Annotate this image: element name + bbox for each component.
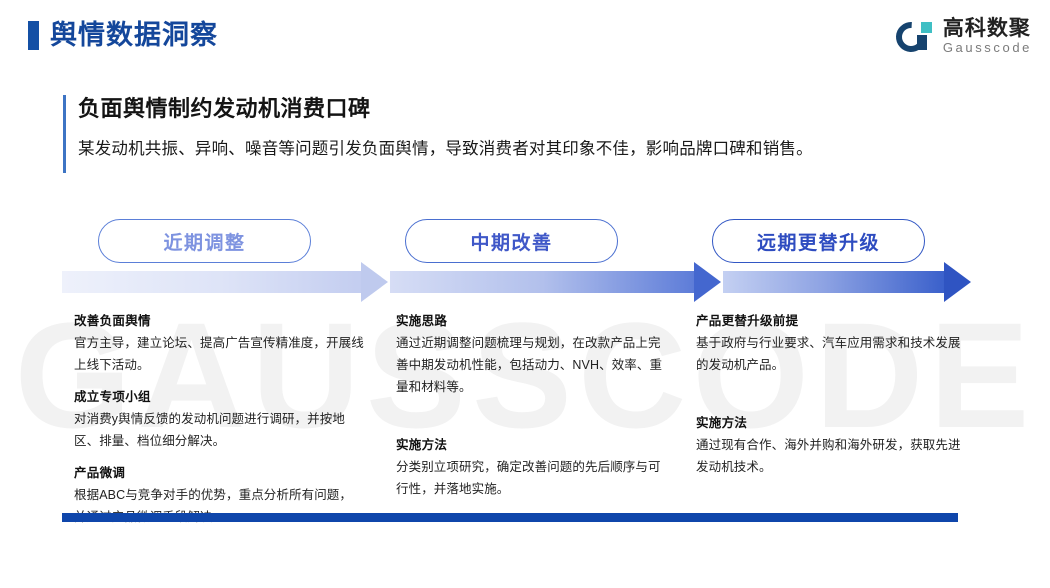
block-title: 实施方法 [696,412,966,434]
lead-subtitle: 某发动机共振、异响、噪音等问题引发负面舆情，导致消费者对其印象不佳，影响品牌口碑… [78,136,963,162]
block-body: 基于政府与行业要求、汽车应用需求和技术发展的发动机产品。 [696,332,966,376]
logo-accent-square-icon [921,22,932,33]
content-block: 实施思路 通过近期调整问题梳理与规划，在改款产品上完善中期发动机性能，包括动力、… [396,310,666,398]
column-near-term: 改善负面舆情 官方主导，建立论坛、提高广告宣传精准度，开展线上线下活动。 成立专… [74,310,364,538]
block-body: 分类别立项研究，确定改善问题的先后顺序与可行性，并落地实施。 [396,456,666,500]
page-title: 舆情数据洞察 [50,17,218,53]
arrow-segment-body [62,271,362,293]
phase-pill-long-term[interactable]: 远期更替升级 [712,219,925,263]
block-title: 产品微调 [74,462,364,484]
slide-header: 舆情数据洞察 高科数聚 Gausscode [0,0,1050,72]
timeline-arrow-band [62,262,972,302]
footer-accent-bar [62,513,958,522]
content-block: 实施方法 分类别立项研究，确定改善问题的先后顺序与可行性，并落地实施。 [396,434,666,500]
phase-pill-near-term[interactable]: 近期调整 [98,219,311,263]
block-title: 产品更替升级前提 [696,310,966,332]
arrow-head-icon [361,262,388,302]
arrow-segment-body [390,271,695,293]
logo-text: 高科数聚 Gausscode [943,18,1032,56]
gausscode-logo-icon [896,18,934,56]
content-block: 产品更替升级前提 基于政府与行业要求、汽车应用需求和技术发展的发动机产品。 [696,310,966,376]
timeline-phase-labels: 近期调整 中期改善 远期更替升级 [0,219,1050,263]
phase-pill-mid-term[interactable]: 中期改善 [405,219,618,263]
lead-heading: 负面舆情制约发动机消费口碑 [78,92,963,126]
arrow-segment-body [723,271,945,293]
logo-bar-icon [917,35,927,50]
content-block: 成立专项小组 对消费y舆情反馈的发动机问题进行调研，并按地区、排量、档位细分解决… [74,386,364,452]
arrow-segment-near-term [62,271,362,293]
lead-accent-rule [63,95,66,173]
block-title: 改善负面舆情 [74,310,364,332]
content-block: 实施方法 通过现有合作、海外并购和海外研发，获取先进发动机技术。 [696,412,966,478]
title-marker-icon [28,21,39,50]
slide-root: GAUSSCODE 舆情数据洞察 高科数聚 Gausscode 负面舆情制约发动… [0,0,1050,588]
logo-name-cn: 高科数聚 [943,18,1032,40]
block-body: 官方主导，建立论坛、提高广告宣传精准度，开展线上线下活动。 [74,332,364,376]
block-title: 成立专项小组 [74,386,364,408]
logo-name-en: Gausscode [943,40,1032,56]
block-spacer [696,386,966,412]
block-title: 实施思路 [396,310,666,332]
lead-block: 负面舆情制约发动机消费口碑 某发动机共振、异响、噪音等问题引发负面舆情，导致消费… [63,92,963,162]
content-block: 改善负面舆情 官方主导，建立论坛、提高广告宣传精准度，开展线上线下活动。 [74,310,364,376]
company-logo: 高科数聚 Gausscode [896,14,1032,60]
column-long-term: 产品更替升级前提 基于政府与行业要求、汽车应用需求和技术发展的发动机产品。 实施… [696,310,966,488]
column-mid-term: 实施思路 通过近期调整问题梳理与规划，在改款产品上完善中期发动机性能，包括动力、… [396,310,666,510]
arrow-segment-long-term [723,271,945,293]
arrow-head-icon [944,262,971,302]
block-title: 实施方法 [396,434,666,456]
arrow-segment-mid-term [390,271,695,293]
arrow-head-icon [694,262,721,302]
block-body: 通过现有合作、海外并购和海外研发，获取先进发动机技术。 [696,434,966,478]
block-body: 通过近期调整问题梳理与规划，在改款产品上完善中期发动机性能，包括动力、NVH、效… [396,332,666,398]
block-body: 对消费y舆情反馈的发动机问题进行调研，并按地区、排量、档位细分解决。 [74,408,364,452]
block-spacer [396,408,666,434]
